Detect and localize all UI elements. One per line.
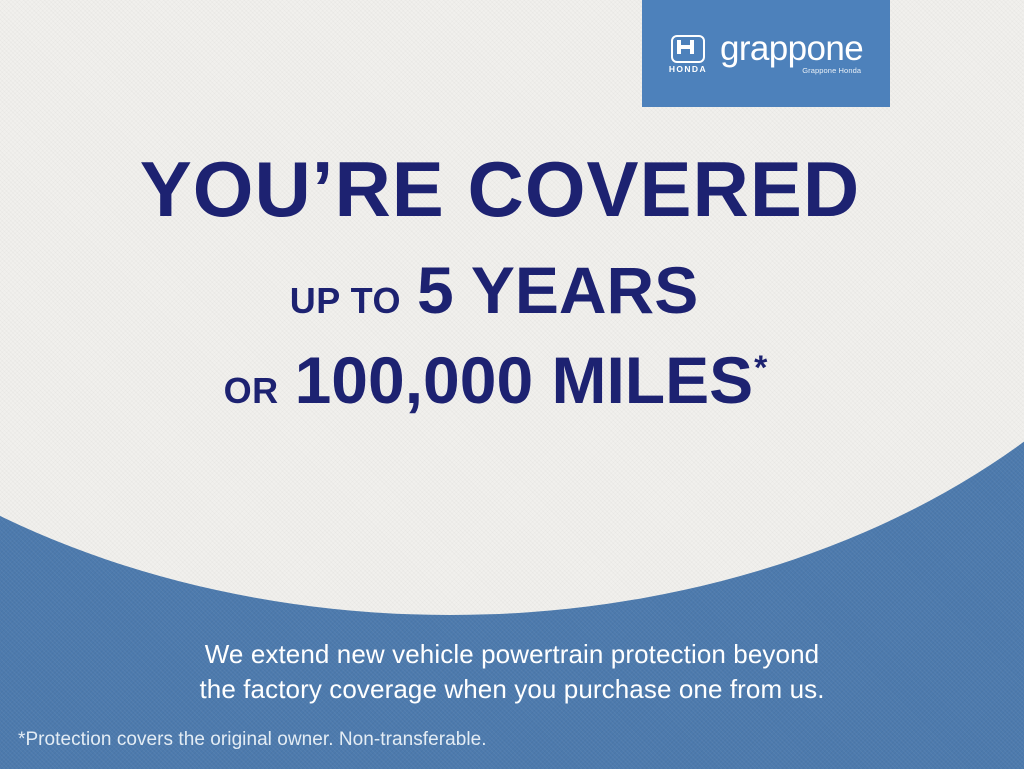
body-copy: We extend new vehicle powertrain protect…	[0, 637, 1024, 707]
headline-miles-value: 100,000 MILES	[295, 342, 754, 418]
body-copy-line-2: the factory coverage when you purchase o…	[0, 672, 1024, 707]
headline-block: YOU’RE COVERED UP TO 5 YEARS OR 100,000 …	[0, 150, 1024, 418]
grappone-brand-block: grappone Grappone Honda	[720, 34, 863, 75]
dealer-logo-lockup: HONDA grappone Grappone Honda	[642, 0, 890, 107]
honda-brand-mark: HONDA	[669, 35, 707, 74]
headline-or-label: OR	[224, 370, 279, 412]
headline-miles-line: OR 100,000 MILES *	[0, 342, 1024, 418]
promotional-banner: HONDA grappone Grappone Honda YOU’RE COV…	[0, 0, 1024, 769]
grappone-wordmark: grappone	[720, 34, 863, 65]
grappone-subtitle: Grappone Honda	[802, 66, 861, 75]
headline-years-line: UP TO 5 YEARS	[0, 252, 1024, 328]
headline-years-value: 5 YEARS	[417, 252, 698, 328]
honda-h-emblem-icon	[671, 35, 705, 63]
disclaimer-text: *Protection covers the original owner. N…	[18, 729, 487, 751]
headline-upto-label: UP TO	[290, 280, 401, 322]
honda-wordmark: HONDA	[669, 65, 707, 74]
headline-primary: YOU’RE COVERED	[0, 150, 1024, 228]
body-copy-line-1: We extend new vehicle powertrain protect…	[0, 637, 1024, 672]
